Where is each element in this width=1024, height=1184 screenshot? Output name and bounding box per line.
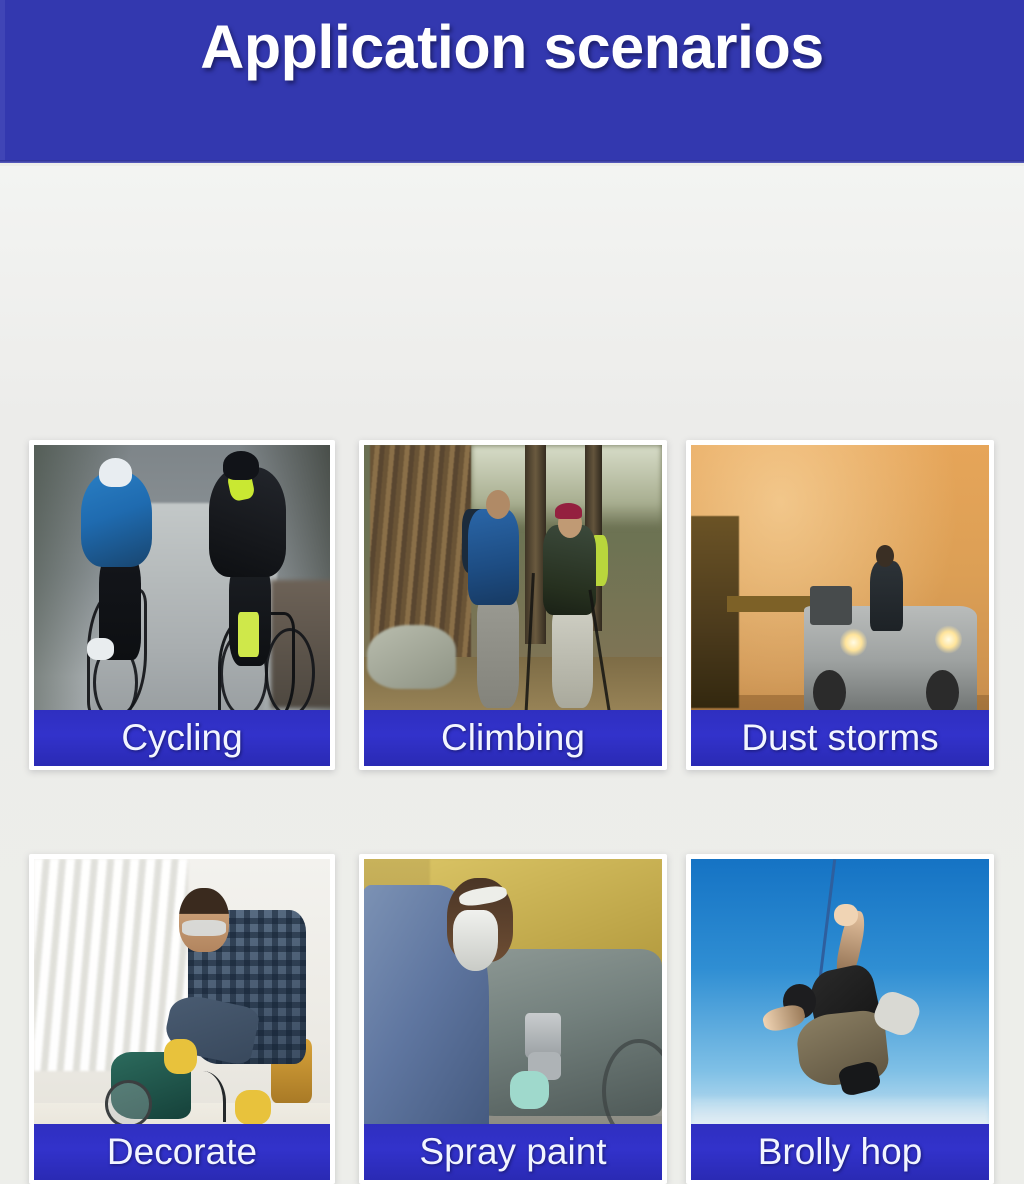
card-media: Spray paint <box>364 859 662 1180</box>
scenario-card-climbing[interactable]: Climbing <box>359 440 667 770</box>
scenario-card-decorate[interactable]: Decorate <box>29 854 335 1184</box>
card-media: Decorate <box>34 859 330 1180</box>
scenario-card-brolly-hop[interactable]: Brolly hop <box>686 854 994 1184</box>
scenario-card-cycling[interactable]: Cycling <box>29 440 335 770</box>
scenario-label-dust-storms: Dust storms <box>691 710 989 766</box>
scenario-label-spray-paint: Spray paint <box>364 1124 662 1180</box>
scenario-grid: Cycling <box>0 166 1024 1024</box>
header-banner: Application scenarios <box>0 0 1024 163</box>
scenario-label-cycling: Cycling <box>34 710 330 766</box>
scenario-card-spray-paint[interactable]: Spray paint <box>359 854 667 1184</box>
page-title: Application scenarios <box>0 12 1024 82</box>
scenario-label-climbing: Climbing <box>364 710 662 766</box>
card-media: Dust storms <box>691 445 989 766</box>
card-media: Climbing <box>364 445 662 766</box>
scenario-label-brolly-hop: Brolly hop <box>691 1124 989 1180</box>
scenario-card-dust-storms[interactable]: Dust storms <box>686 440 994 770</box>
card-media: Brolly hop <box>691 859 989 1180</box>
card-media: Cycling <box>34 445 330 766</box>
scenario-label-decorate: Decorate <box>34 1124 330 1180</box>
